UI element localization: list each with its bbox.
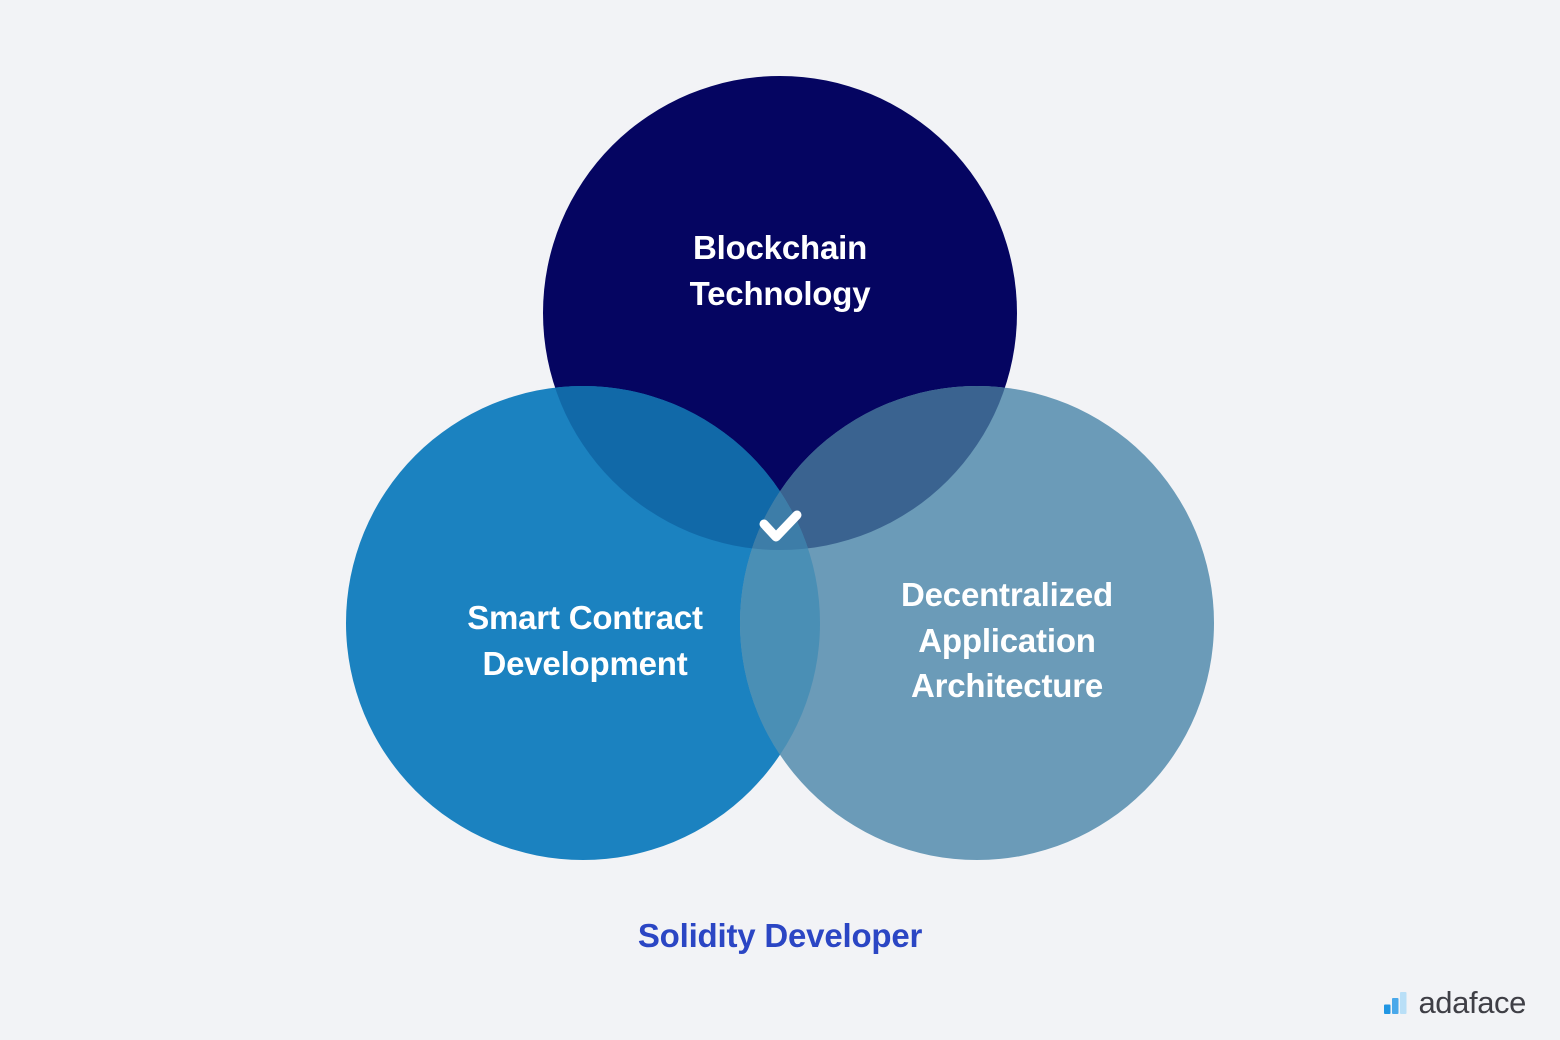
adaface-logo: adaface <box>1383 987 1526 1018</box>
bar-chart-icon <box>1383 990 1409 1016</box>
diagram-caption: Solidity Developer <box>0 917 1560 955</box>
venn-diagram: Blockchain Technology Smart Contract Dev… <box>0 0 1560 1040</box>
venn-circles <box>0 0 1560 1040</box>
brand-name: adaface <box>1418 987 1526 1018</box>
